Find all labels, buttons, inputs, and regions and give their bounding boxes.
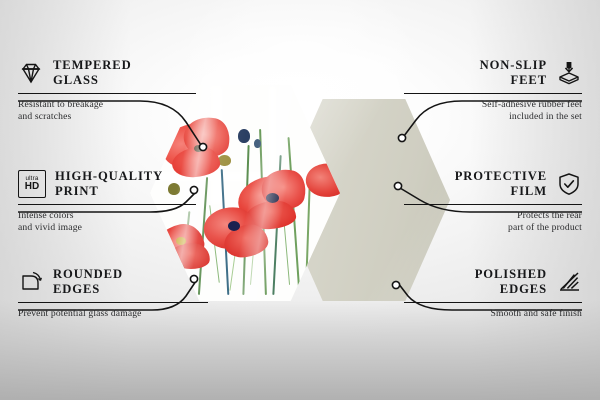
feature-header: ROUNDED EDGES xyxy=(18,267,208,297)
feature-divider xyxy=(18,302,208,303)
feature-polished-edges[interactable]: POLISHED EDGES Smooth and safe finish xyxy=(404,267,582,320)
feature-divider xyxy=(404,204,582,205)
feature-divider xyxy=(18,204,196,205)
ultra-hd-icon-bottom-text: HD xyxy=(25,182,39,192)
feature-title: POLISHED EDGES xyxy=(475,267,547,297)
feature-title: HIGH-QUALITY PRINT xyxy=(55,169,163,199)
feature-divider xyxy=(18,93,196,94)
rounded-corner-icon xyxy=(18,269,44,295)
feature-rounded-edges[interactable]: ROUNDED EDGES Prevent potential glass da… xyxy=(18,267,208,320)
feature-title: TEMPERED GLASS xyxy=(53,58,132,88)
feature-subtitle: Protects the rear part of the product xyxy=(404,210,582,233)
infographic-canvas: TEMPERED GLASS Resistant to breakage and… xyxy=(0,0,600,400)
feature-header: POLISHED EDGES xyxy=(404,267,582,297)
feature-header: NON-SLIP FEET xyxy=(404,58,582,88)
connector-endpoint xyxy=(392,281,399,288)
feature-header: TEMPERED GLASS xyxy=(18,58,196,88)
ultra-hd-icon: ultra HD xyxy=(18,170,46,198)
feature-header: PROTECTIVE FILM xyxy=(404,169,582,199)
feature-title: PROTECTIVE FILM xyxy=(455,169,547,199)
feature-title: ROUNDED EDGES xyxy=(53,267,123,297)
feature-subtitle: Resistant to breakage and scratches xyxy=(18,99,196,122)
feature-title: NON-SLIP FEET xyxy=(480,58,547,88)
feature-header: ultra HD HIGH-QUALITY PRINT xyxy=(18,169,196,199)
feature-non-slip-feet[interactable]: NON-SLIP FEET Self-adhesive rubber feet … xyxy=(404,58,582,122)
press-pad-icon xyxy=(556,60,582,86)
feature-divider xyxy=(404,302,582,303)
feature-protective-film[interactable]: PROTECTIVE FILM Protects the rear part o… xyxy=(404,169,582,233)
feature-divider xyxy=(404,93,582,94)
feature-high-quality-print[interactable]: ultra HD HIGH-QUALITY PRINT Intense colo… xyxy=(18,169,196,233)
shield-check-icon xyxy=(556,171,582,197)
feature-subtitle: Self-adhesive rubber feet included in th… xyxy=(404,99,582,122)
connector-endpoint xyxy=(398,134,405,141)
connector-endpoint xyxy=(394,182,401,189)
feature-subtitle: Smooth and safe finish xyxy=(404,308,582,320)
feature-subtitle: Intense colors and vivid image xyxy=(18,210,196,233)
polished-hatch-icon xyxy=(556,269,582,295)
feature-tempered-glass[interactable]: TEMPERED GLASS Resistant to breakage and… xyxy=(18,58,196,122)
diamond-icon xyxy=(18,60,44,86)
feature-subtitle: Prevent potential glass damage xyxy=(18,308,208,320)
connector-endpoint xyxy=(199,143,206,150)
